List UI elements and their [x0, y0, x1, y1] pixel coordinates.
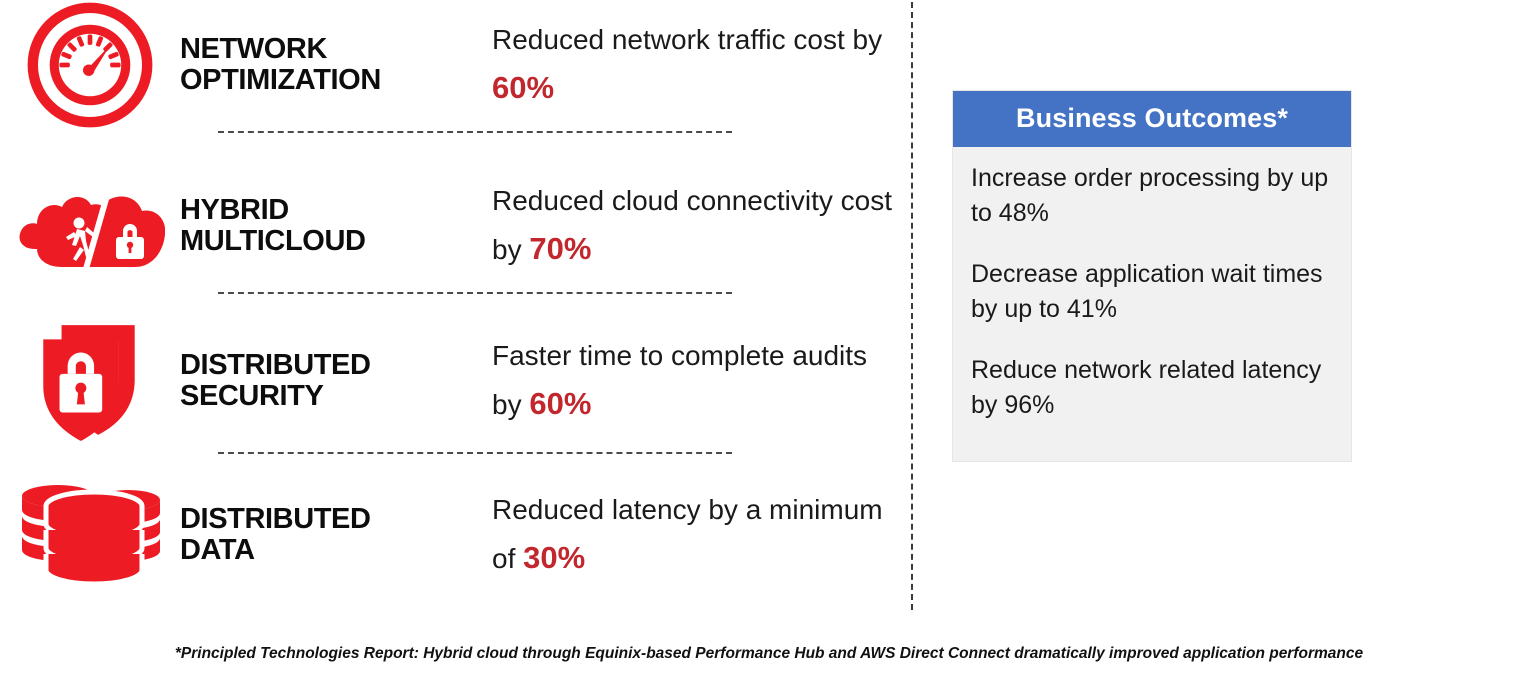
cloud-lock-icon — [0, 164, 180, 288]
benefit-stat-value: 30% — [523, 540, 585, 575]
benefit-title-line2: OPTIMIZATION — [180, 65, 470, 96]
benefit-row: DISTRIBUTED DATA Reduced latency by a mi… — [0, 472, 900, 598]
benefit-row: DISTRIBUTED SECURITY Faster time to comp… — [0, 318, 900, 444]
benefit-stat-value: 60% — [529, 386, 591, 421]
benefit-title-line1: NETWORK — [180, 34, 470, 65]
benefit-title: HYBRID MULTICLOUD — [180, 195, 470, 256]
benefit-stat-value: 60% — [492, 70, 554, 105]
list-item: Increase order processing by up to 48% — [971, 161, 1333, 231]
vertical-dashed-divider — [911, 2, 913, 610]
benefit-row: NETWORK OPTIMIZATION Reduced network tra… — [0, 6, 900, 124]
benefit-title-line2: SECURITY — [180, 381, 470, 412]
benefit-title: DISTRIBUTED SECURITY — [180, 350, 470, 411]
benefit-stat-value: 70% — [529, 231, 591, 266]
benefit-stat: Reduced latency by a minimum of 30% — [470, 487, 900, 583]
benefit-title-line1: DISTRIBUTED — [180, 504, 470, 535]
benefit-row: HYBRID MULTICLOUD Reduced cloud connecti… — [0, 164, 900, 288]
benefit-stat: Reduced network traffic cost by 60% — [470, 17, 900, 113]
benefit-title: NETWORK OPTIMIZATION — [180, 34, 470, 95]
benefits-column: NETWORK OPTIMIZATION Reduced network tra… — [0, 0, 900, 612]
benefit-stat: Reduced cloud connectivity cost by 70% — [470, 178, 900, 274]
list-item: Decrease application wait times by up to… — [971, 257, 1333, 327]
row-divider — [218, 292, 732, 294]
business-outcomes-list: Increase order processing by up to 48% D… — [953, 147, 1351, 461]
list-item: Reduce network related latency by 96% — [971, 353, 1333, 423]
benefit-title-line1: HYBRID — [180, 195, 470, 226]
database-stack-icon — [0, 472, 180, 598]
business-outcomes-panel: Business Outcomes* Increase order proces… — [952, 90, 1352, 462]
benefit-title-line2: MULTICLOUD — [180, 226, 470, 257]
row-divider — [218, 452, 732, 454]
benefit-stat: Faster time to complete audits by 60% — [470, 333, 900, 429]
benefit-title-line1: DISTRIBUTED — [180, 350, 470, 381]
shield-lock-icon — [0, 318, 180, 444]
benefit-title: DISTRIBUTED DATA — [180, 504, 470, 565]
footnote: *Principled Technologies Report: Hybrid … — [0, 645, 1538, 663]
benefit-stat-text: Reduced network traffic cost by — [492, 24, 882, 55]
business-outcomes-header: Business Outcomes* — [953, 91, 1351, 147]
benefit-title-line2: DATA — [180, 535, 470, 566]
row-divider — [218, 131, 732, 133]
speedometer-icon — [0, 6, 180, 124]
